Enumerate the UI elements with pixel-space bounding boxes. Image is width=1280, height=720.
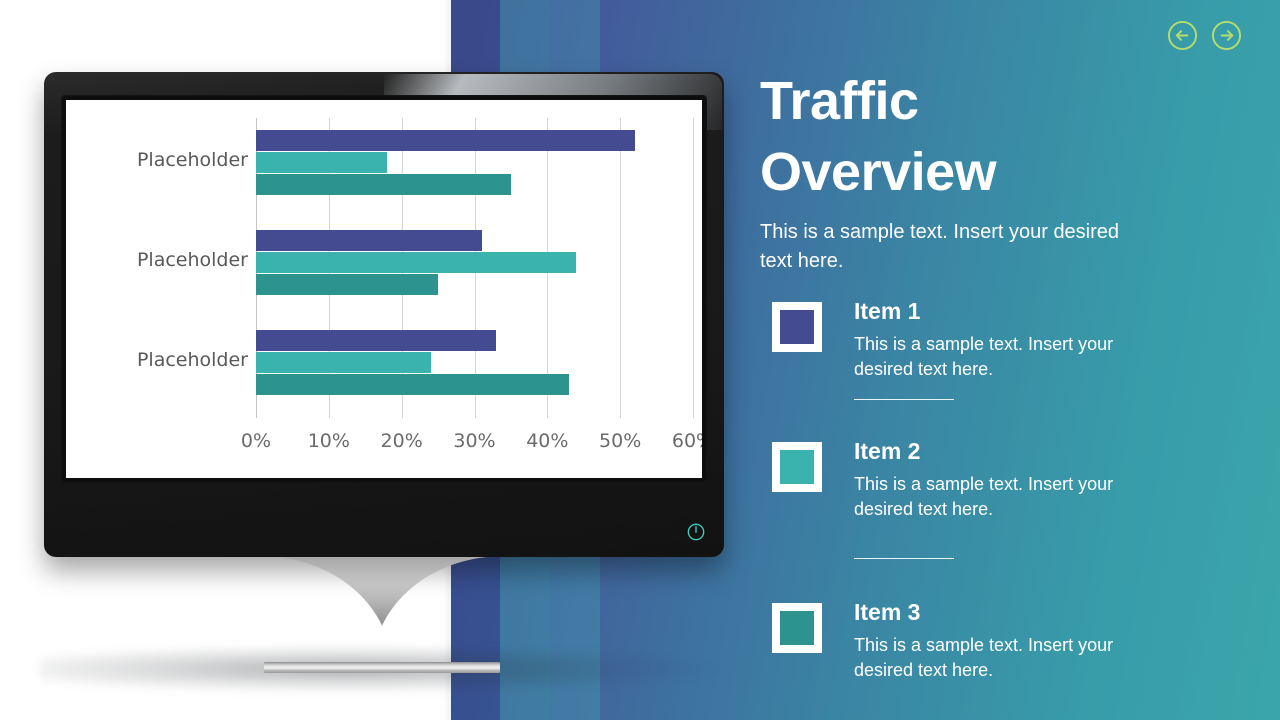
bar-chart: PlaceholderPlaceholderPlaceholder0%10%20…	[66, 100, 702, 478]
page-title-line-2: Overview	[760, 137, 1240, 208]
monitor-stand-neck-fill	[262, 556, 502, 668]
item-body: Item 2 This is a sample text. Insert you…	[854, 438, 1154, 523]
slide-navigation	[1167, 20, 1242, 51]
item-body: Item 1 This is a sample text. Insert you…	[854, 298, 1154, 383]
chart-x-tick-label: 0%	[241, 430, 271, 452]
chart-category-label: Placeholder	[66, 249, 248, 271]
chart-category-label: Placeholder	[66, 349, 248, 371]
chart-x-tick-label: 40%	[526, 430, 568, 452]
item-color-swatch-fill	[780, 310, 814, 344]
item-color-swatch	[772, 442, 822, 492]
item-description: This is a sample text. Insert your desir…	[854, 633, 1116, 684]
page-title-line-1: Traffic	[760, 66, 1240, 137]
chart-plot-area	[256, 118, 693, 418]
item-color-swatch-fill	[780, 611, 814, 645]
chart-gridline	[693, 118, 694, 418]
chart-category-group	[256, 130, 693, 195]
chart-category-group	[256, 230, 693, 295]
chart-bar	[256, 130, 635, 151]
item-title: Item 3	[854, 599, 1154, 627]
chart-x-tick-label: 20%	[381, 430, 423, 452]
chart-bar	[256, 352, 431, 373]
monitor-device: PlaceholderPlaceholderPlaceholder0%10%20…	[44, 72, 724, 557]
item-divider	[854, 399, 954, 400]
item-divider	[854, 558, 954, 559]
chart-bar	[256, 152, 387, 173]
arrow-right-icon[interactable]	[1211, 20, 1242, 51]
power-icon[interactable]	[686, 522, 706, 542]
chart-bar	[256, 274, 438, 295]
item-description: This is a sample text. Insert your desir…	[854, 472, 1116, 523]
page-title: Traffic Overview	[760, 66, 1240, 209]
chart-x-tick-label: 50%	[599, 430, 641, 452]
chart-bar	[256, 230, 482, 251]
monitor-screen: PlaceholderPlaceholderPlaceholder0%10%20…	[66, 100, 702, 478]
chart-x-tick-label: 60%	[672, 430, 702, 452]
item-color-swatch-fill	[780, 450, 814, 484]
monitor-stand-neck	[262, 556, 502, 668]
item-body: Item 3 This is a sample text. Insert you…	[854, 599, 1154, 684]
chart-bar	[256, 252, 576, 273]
chart-category-group	[256, 330, 693, 395]
chart-bar	[256, 374, 569, 395]
slide-canvas: PlaceholderPlaceholderPlaceholder0%10%20…	[0, 0, 1280, 720]
chart-bar	[256, 330, 496, 351]
item-title: Item 1	[854, 298, 1154, 326]
chart-x-tick-label: 30%	[453, 430, 495, 452]
chart-category-label: Placeholder	[66, 149, 248, 171]
item-title: Item 2	[854, 438, 1154, 466]
item-color-swatch	[772, 302, 822, 352]
page-subtitle: This is a sample text. Insert your desir…	[760, 218, 1120, 276]
chart-bar	[256, 174, 511, 195]
chart-x-tick-label: 10%	[308, 430, 350, 452]
item-color-swatch	[772, 603, 822, 653]
arrow-left-icon[interactable]	[1167, 20, 1198, 51]
item-description: This is a sample text. Insert your desir…	[854, 332, 1116, 383]
monitor-stand-base	[264, 662, 500, 673]
